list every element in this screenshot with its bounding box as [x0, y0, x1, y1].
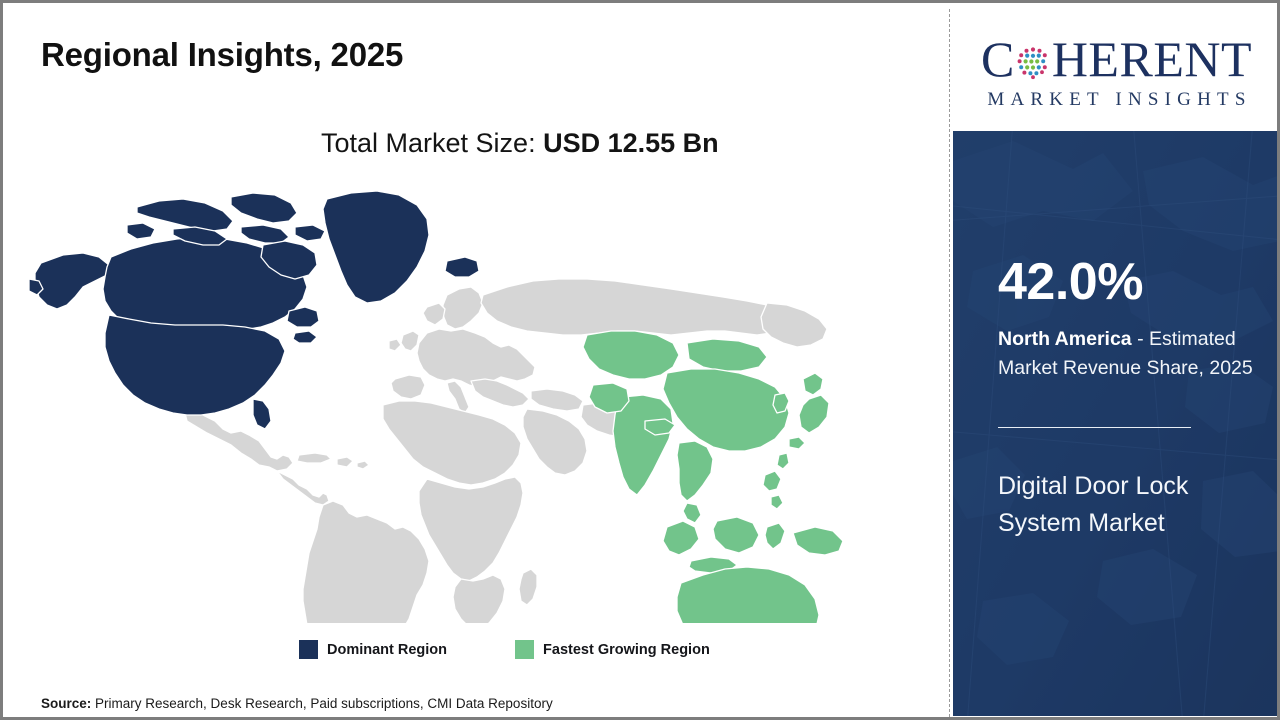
source-label: Source:	[41, 696, 91, 711]
source-note: Source: Primary Research, Desk Research,…	[41, 696, 553, 711]
logo-tagline: MARKET INSIGHTS	[981, 89, 1251, 111]
share-percentage: 42.0%	[998, 256, 1143, 308]
market-size-value: USD 12.55 Bn	[543, 128, 719, 158]
legend-item-fastest-growing: Fastest Growing Region	[515, 640, 710, 659]
panel-divider-rule	[998, 427, 1191, 428]
world-map	[27, 183, 857, 623]
brand-logo: C	[953, 6, 1280, 131]
logo-letter-c: C	[981, 34, 1015, 84]
legend-item-dominant: Dominant Region	[299, 640, 447, 659]
vertical-divider	[949, 9, 950, 717]
region-asia-pacific	[583, 331, 851, 623]
legend-label-fastest-growing: Fastest Growing Region	[543, 642, 710, 658]
logo-wordmark: C	[981, 32, 1252, 86]
regional-highlight-panel: 42.0% North America - Estimated Market R…	[953, 131, 1280, 716]
market-size-label: Total Market Size:	[321, 128, 536, 158]
legend-swatch-dominant	[299, 640, 318, 659]
share-description: North America - Estimated Market Revenue…	[998, 325, 1260, 383]
total-market-size: Total Market Size: USD 12.55 Bn	[321, 128, 719, 159]
source-text: Primary Research, Desk Research, Paid su…	[95, 696, 553, 711]
legend-label-dominant: Dominant Region	[327, 642, 447, 658]
left-content-pane: Regional Insights, 2025 Total Market Siz…	[3, 3, 947, 717]
map-legend: Dominant Region Fastest Growing Region	[299, 640, 710, 659]
infographic-frame: Regional Insights, 2025 Total Market Siz…	[0, 0, 1280, 720]
legend-swatch-fastest-growing	[515, 640, 534, 659]
page-title: Regional Insights, 2025	[41, 36, 403, 74]
market-name: Digital Door Lock System Market	[998, 468, 1238, 542]
dotted-globe-icon	[1015, 44, 1051, 80]
share-region-name: North America	[998, 328, 1132, 350]
panel-content: 42.0% North America - Estimated Market R…	[998, 131, 1258, 716]
logo-word-herent: HERENT	[1052, 34, 1252, 84]
